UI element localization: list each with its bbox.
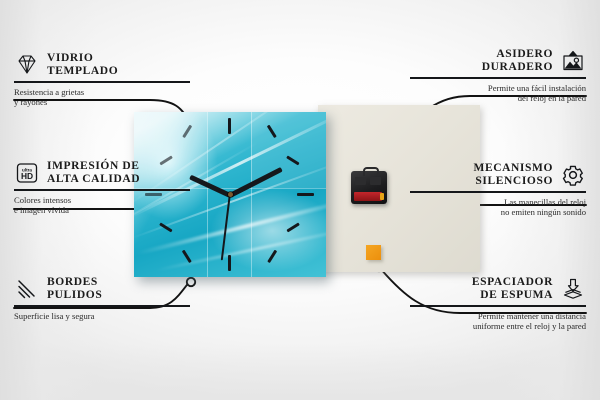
feature-header: VIDRIO TEMPLADO	[14, 52, 190, 78]
polished-edges-icon	[14, 277, 40, 301]
hour-marker-5	[267, 250, 277, 263]
feature-description: Las manecillas del reloj no emiten ningú…	[410, 197, 586, 218]
feature-title: MECANISMO SILENCIOSO	[473, 162, 553, 188]
foam-spacer	[366, 245, 381, 260]
minute-hand	[229, 167, 283, 198]
feature-asidero-duradero: ASIDERO DURADERO Permite una fácil insta…	[410, 48, 586, 104]
gear-icon	[560, 163, 586, 187]
divider	[14, 81, 190, 83]
divider	[410, 305, 586, 307]
feature-description: Resistencia a grietas y rayones	[14, 87, 190, 108]
ultra-hd-icon: ultra HD	[14, 161, 40, 185]
hour-marker-1	[267, 125, 277, 138]
hour-marker-6	[228, 255, 231, 271]
hour-marker-8	[159, 222, 172, 232]
hour-marker-11	[182, 125, 192, 138]
hour-marker-7	[182, 250, 192, 263]
mechanism-hanger	[363, 167, 379, 176]
feature-bordes-pulidos: BORDES PULIDOS Superficie lisa y segura	[14, 276, 190, 321]
wall-hanger-icon	[560, 49, 586, 73]
feature-description: Permite una fácil instalación del reloj …	[410, 83, 586, 104]
feature-espaciador-espuma: ESPACIADOR DE ESPUMA Permite mantener un…	[410, 276, 586, 332]
divider	[14, 305, 190, 307]
feature-vidrio-templado: VIDRIO TEMPLADO Resistencia a grietas y …	[14, 52, 190, 108]
feature-description: Superficie lisa y segura	[14, 311, 190, 322]
feature-description: Permite mantener una distancia uniforme …	[410, 311, 586, 332]
mechanism-slot	[370, 177, 381, 185]
feature-header: ESPACIADOR DE ESPUMA	[410, 276, 586, 302]
foam-spacer-icon	[560, 277, 586, 301]
feature-header: ASIDERO DURADERO	[410, 48, 586, 74]
hour-marker-2	[286, 155, 299, 165]
hour-hand	[189, 175, 231, 198]
feature-impresion-alta-calidad: ultra HD IMPRESIÓN DE ALTA CALIDAD Color…	[14, 160, 190, 216]
feature-title: VIDRIO TEMPLADO	[47, 52, 118, 78]
hour-marker-3	[297, 193, 314, 196]
feature-title: ESPACIADOR DE ESPUMA	[472, 276, 553, 302]
feature-title: IMPRESIÓN DE ALTA CALIDAD	[47, 160, 140, 186]
feature-header: MECANISMO SILENCIOSO	[410, 162, 586, 188]
hour-marker-12	[228, 118, 231, 134]
feature-description: Colores intensos e imagen vívida	[14, 195, 190, 216]
clock-hub	[228, 192, 233, 197]
divider	[14, 189, 190, 191]
feature-mecanismo-silencioso: MECANISMO SILENCIOSO Las manecillas del …	[410, 162, 586, 218]
feature-title: ASIDERO DURADERO	[482, 48, 553, 74]
feature-title: BORDES PULIDOS	[47, 276, 102, 302]
divider	[410, 77, 586, 79]
diamond-icon	[14, 53, 40, 77]
infographic-canvas: VIDRIO TEMPLADO Resistencia a grietas y …	[0, 0, 600, 400]
second-hand	[221, 195, 231, 261]
mechanism-slot	[355, 177, 366, 185]
feature-header: ultra HD IMPRESIÓN DE ALTA CALIDAD	[14, 160, 190, 186]
feature-header: BORDES PULIDOS	[14, 276, 190, 302]
hour-marker-4	[286, 222, 299, 232]
divider	[410, 191, 586, 193]
svg-text:HD: HD	[21, 171, 33, 181]
battery	[354, 192, 382, 201]
clock-mechanism	[351, 171, 387, 204]
